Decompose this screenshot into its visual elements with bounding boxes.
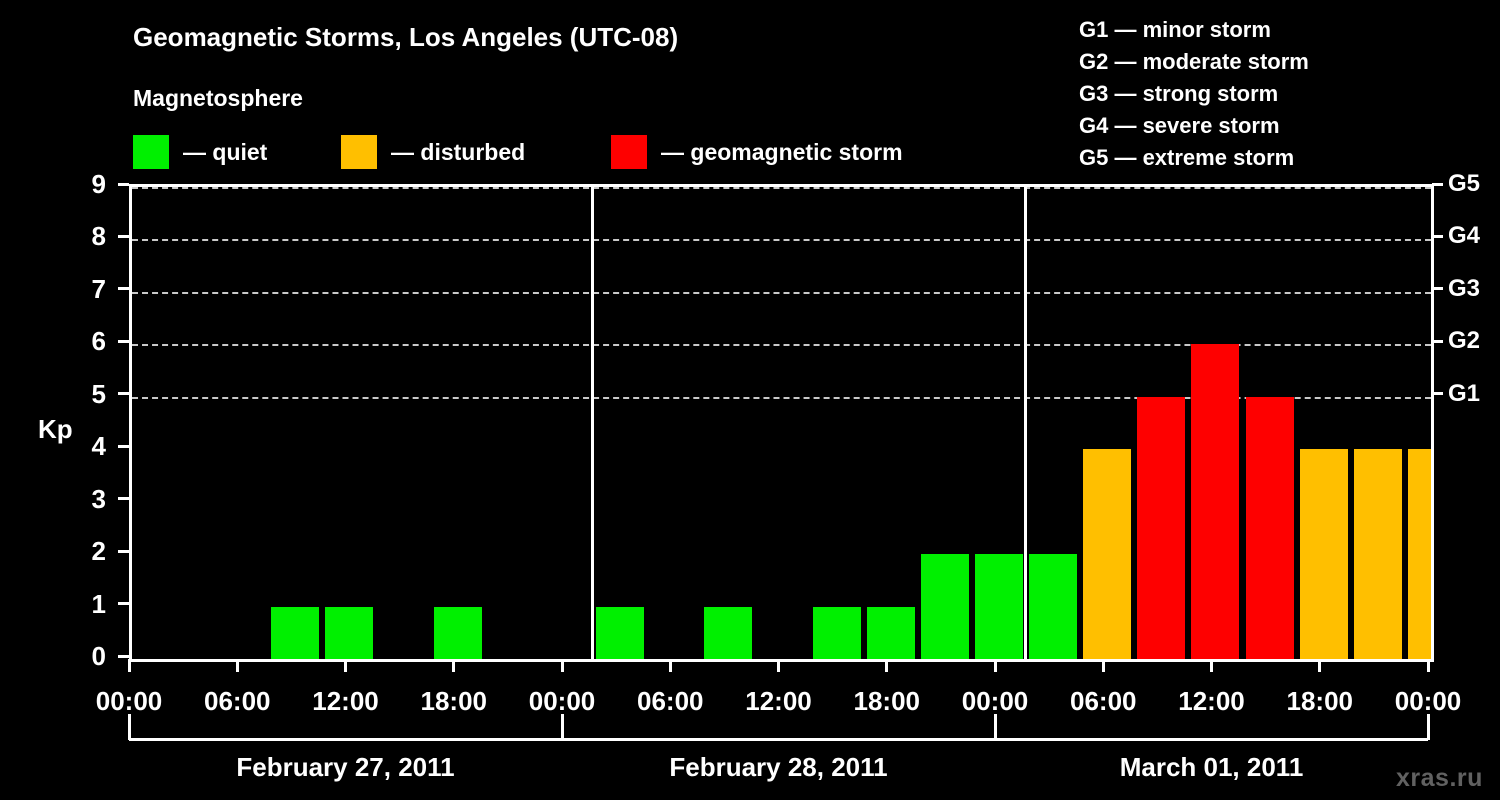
- y-tick-mark-6: [118, 340, 129, 343]
- day-divider: [1024, 187, 1027, 659]
- g-legend-row-2: G2 — moderate storm: [1079, 46, 1309, 78]
- bar: [434, 607, 482, 659]
- x-tick-label-0: 00:00: [69, 688, 189, 714]
- g-tick-mark-G2: [1432, 340, 1443, 343]
- x-tick-label-5: 06:00: [610, 688, 730, 714]
- g-tick-mark-G1: [1432, 392, 1443, 395]
- day-divider: [591, 187, 594, 659]
- day-tick-start-2: [994, 714, 997, 740]
- x-tick-mark-0: [128, 659, 131, 672]
- x-tick-mark-9: [1102, 659, 1105, 672]
- x-tick-label-9: 06:00: [1043, 688, 1163, 714]
- y-tick-label-8: 8: [66, 223, 106, 249]
- g-legend-row-5: G5 — extreme storm: [1079, 142, 1309, 174]
- bar: [1408, 449, 1431, 659]
- bar: [867, 607, 915, 659]
- x-tick-mark-11: [1318, 659, 1321, 672]
- y-tick-mark-7: [118, 287, 129, 290]
- bar: [1191, 344, 1239, 659]
- bar: [1246, 397, 1294, 659]
- g-legend-row-4: G4 — severe storm: [1079, 110, 1309, 142]
- day-label-0: February 27, 2011: [129, 752, 562, 783]
- plot-area: [132, 187, 1431, 659]
- x-tick-mark-4: [561, 659, 564, 672]
- x-tick-label-8: 00:00: [935, 688, 1055, 714]
- y-tick-mark-5: [118, 392, 129, 395]
- x-tick-mark-12: [1427, 659, 1430, 672]
- x-tick-label-12: 00:00: [1368, 688, 1488, 714]
- bar: [596, 607, 644, 659]
- day-bracket-0: [129, 738, 562, 741]
- bar: [921, 554, 969, 659]
- y-tick-mark-0: [118, 655, 129, 658]
- bar: [1137, 397, 1185, 659]
- legend-entry-2: — geomagnetic storm: [611, 133, 903, 171]
- gridline-kp-8: [132, 239, 1431, 241]
- y-tick-mark-3: [118, 497, 129, 500]
- x-tick-label-10: 12:00: [1152, 688, 1272, 714]
- g-tick-label-G3: G3: [1448, 277, 1500, 301]
- quiet-swatch: [133, 135, 169, 169]
- y-tick-label-1: 1: [66, 591, 106, 617]
- day-bracket-2: [995, 738, 1428, 741]
- magnetosphere-label: Magnetosphere: [133, 85, 303, 112]
- kp-axis-label: Kp: [38, 414, 73, 445]
- y-tick-mark-4: [118, 445, 129, 448]
- y-tick-mark-2: [118, 550, 129, 553]
- g-tick-mark-G5: [1432, 183, 1443, 186]
- x-tick-mark-10: [1210, 659, 1213, 672]
- g-tick-mark-G4: [1432, 235, 1443, 238]
- x-tick-mark-1: [236, 659, 239, 672]
- y-tick-label-5: 5: [66, 381, 106, 407]
- legend-entry-1: — disturbed: [341, 133, 525, 171]
- x-tick-mark-3: [452, 659, 455, 672]
- x-tick-label-1: 06:00: [177, 688, 297, 714]
- legend-label: — geomagnetic storm: [661, 141, 903, 164]
- g-legend-row-1: G1 — minor storm: [1079, 14, 1309, 46]
- plot-frame: [129, 184, 1434, 662]
- y-tick-mark-1: [118, 602, 129, 605]
- g-tick-label-G4: G4: [1448, 224, 1500, 248]
- bar: [325, 607, 373, 659]
- y-tick-label-2: 2: [66, 538, 106, 564]
- day-tick-start-0: [128, 714, 131, 740]
- bar: [271, 607, 319, 659]
- bar: [975, 554, 1023, 659]
- geomagnetic-storm-chart: Geomagnetic Storms, Los Angeles (UTC-08)…: [0, 0, 1500, 800]
- legend-label: — quiet: [183, 141, 267, 164]
- gridline-kp-7: [132, 292, 1431, 294]
- x-tick-label-2: 12:00: [286, 688, 406, 714]
- y-tick-mark-8: [118, 235, 129, 238]
- legend-label: — disturbed: [391, 141, 525, 164]
- y-tick-label-3: 3: [66, 486, 106, 512]
- x-tick-label-11: 18:00: [1260, 688, 1380, 714]
- gridline-kp-9: [132, 187, 1431, 189]
- g-tick-label-G5: G5: [1448, 172, 1500, 196]
- g-tick-mark-G3: [1432, 287, 1443, 290]
- day-bracket-1: [562, 738, 995, 741]
- x-tick-label-3: 18:00: [394, 688, 514, 714]
- watermark: xras.ru: [1396, 764, 1483, 793]
- day-tick-end: [1427, 714, 1430, 740]
- x-tick-mark-8: [994, 659, 997, 672]
- y-tick-label-9: 9: [66, 171, 106, 197]
- g-tick-label-G2: G2: [1448, 329, 1500, 353]
- x-tick-label-4: 00:00: [502, 688, 622, 714]
- y-tick-mark-9: [118, 183, 129, 186]
- bar: [813, 607, 861, 659]
- bar: [1300, 449, 1348, 659]
- x-tick-mark-5: [669, 659, 672, 672]
- x-tick-label-6: 12:00: [719, 688, 839, 714]
- page-title: Geomagnetic Storms, Los Angeles (UTC-08): [133, 22, 678, 53]
- g-tick-label-G1: G1: [1448, 382, 1500, 406]
- x-tick-mark-7: [885, 659, 888, 672]
- y-tick-label-7: 7: [66, 276, 106, 302]
- bar: [1083, 449, 1131, 659]
- y-tick-label-0: 0: [66, 643, 106, 669]
- legend-entry-0: — quiet: [133, 133, 267, 171]
- g-legend-row-3: G3 — strong storm: [1079, 78, 1309, 110]
- disturbed-swatch: [341, 135, 377, 169]
- bar: [704, 607, 752, 659]
- g-scale-legend: G1 — minor stormG2 — moderate stormG3 — …: [1079, 14, 1309, 174]
- day-label-2: March 01, 2011: [995, 752, 1428, 783]
- x-tick-mark-2: [344, 659, 347, 672]
- bar: [1354, 449, 1402, 659]
- day-tick-start-1: [561, 714, 564, 740]
- bar: [1029, 554, 1077, 659]
- x-tick-mark-6: [777, 659, 780, 672]
- x-tick-label-7: 18:00: [827, 688, 947, 714]
- storm-swatch: [611, 135, 647, 169]
- day-label-1: February 28, 2011: [562, 752, 995, 783]
- y-tick-label-6: 6: [66, 328, 106, 354]
